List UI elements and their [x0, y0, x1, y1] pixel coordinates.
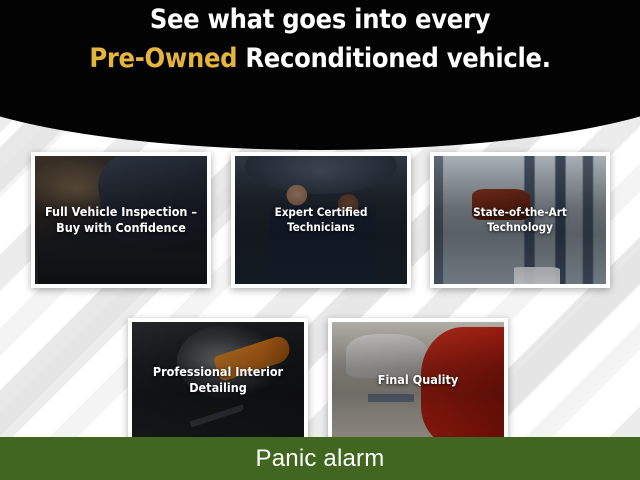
slide-canvas: See what goes into every Pre-Owned Recon… [0, 0, 640, 480]
headline-accent-text: Pre-Owned [89, 43, 237, 74]
feature-card-caption: Full Vehicle Inspection – Buy with Confi… [35, 204, 207, 236]
headline-line-1: See what goes into every [0, 0, 640, 39]
feature-card-full-vehicle-inspection[interactable]: Full Vehicle Inspection – Buy with Confi… [31, 152, 211, 288]
feature-card-final-quality[interactable]: Final Quality [328, 318, 508, 442]
feature-card-caption: Expert Certified Technicians [235, 205, 407, 235]
feature-card-expert-certified-technicians[interactable]: Expert Certified Technicians [231, 152, 411, 288]
banner-headline: See what goes into every Pre-Owned Recon… [0, 0, 640, 78]
banner-header: See what goes into every Pre-Owned Recon… [0, 0, 640, 150]
feature-card-caption: Professional Interior Detailing [132, 364, 304, 396]
feature-card-professional-interior-detailing[interactable]: Professional Interior Detailing [128, 318, 308, 442]
footer-caption-label: Panic alarm [256, 445, 385, 473]
headline-rest-text: Reconditioned vehicle. [237, 43, 550, 74]
feature-card-caption: Final Quality [332, 372, 504, 388]
headline-line-2: Pre-Owned Reconditioned vehicle. [0, 39, 640, 78]
banner-header-content: See what goes into every Pre-Owned Recon… [0, 0, 640, 150]
feature-card-state-of-the-art-technology[interactable]: State-of-the-Art Technology [430, 152, 610, 288]
feature-card-caption: State-of-the-Art Technology [434, 205, 606, 235]
footer-caption-bar: Panic alarm [0, 437, 640, 480]
